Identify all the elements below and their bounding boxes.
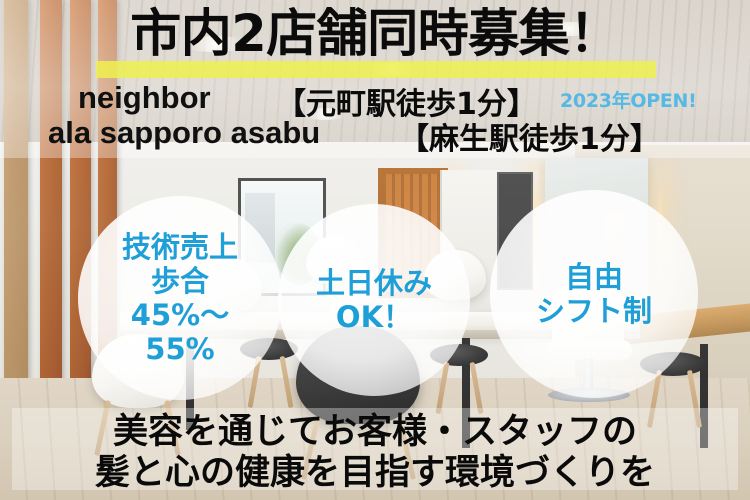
tagline: 美容を通じてお客様・スタッフの 髪と心の健康を目指す環境づくりを xyxy=(0,412,750,494)
shop-name-neighbor: neighbor xyxy=(78,80,211,116)
benefit-circle-commission: 技術売上歩合45%〜55% xyxy=(78,196,282,400)
benefit-circle-free-shift: 自由シフト制 xyxy=(490,190,698,398)
page-title: 市内2店舗同時募集！ xyxy=(0,4,750,66)
shop-name-ala-sapporo-asabu: ala sapporo asabu xyxy=(48,115,320,151)
recruitment-poster: 市内2店舗同時募集！ neighbor 【元町駅徒歩1分】 2023年OPEN!… xyxy=(0,0,750,500)
benefit-text-weekend-off: 土日休みOK！ xyxy=(316,266,432,334)
shop-line-2: ala sapporo asabu 【麻生駅徒歩1分】 xyxy=(0,115,750,153)
benefit-text-free-shift: 自由シフト制 xyxy=(536,260,652,328)
open-year-badge: 2023年OPEN! xyxy=(560,86,697,113)
tagline-line-1: 美容を通じてお客様・スタッフの xyxy=(0,412,750,453)
shop-access-ala-sapporo-asabu: 【麻生駅徒歩1分】 xyxy=(399,114,660,158)
benefit-circle-weekend-off: 土日休みOK！ xyxy=(278,204,470,396)
benefit-text-commission: 技術売上歩合45%〜55% xyxy=(122,230,238,367)
tagline-line-2: 髪と心の健康を目指す環境づくりを xyxy=(0,453,750,494)
